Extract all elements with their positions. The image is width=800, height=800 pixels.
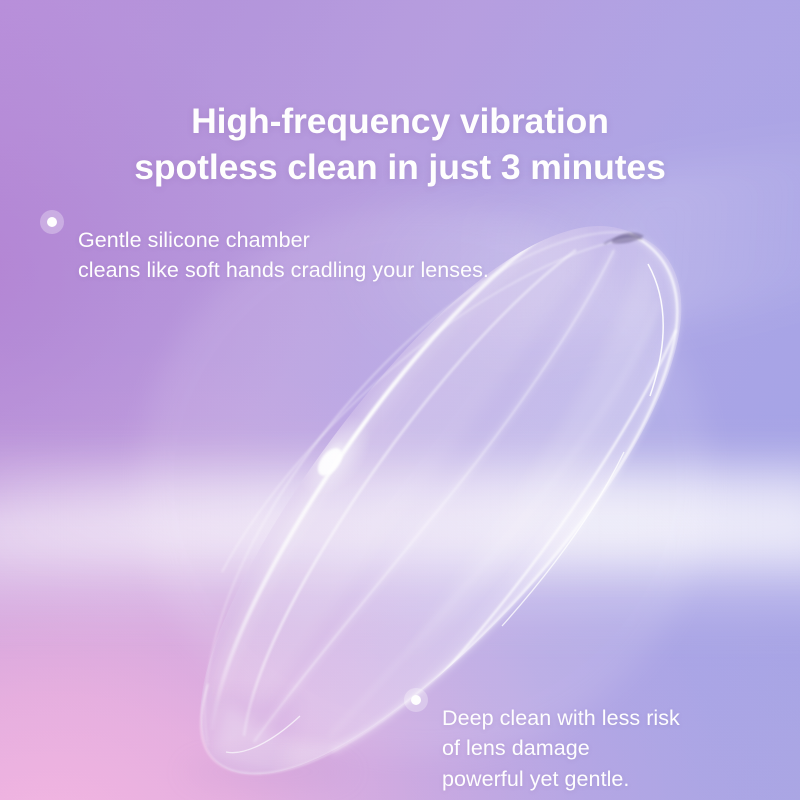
product-banner: High-frequency vibration spotless clean … xyxy=(0,0,800,800)
feature-bullet-text: Deep clean with less risk of lens damage… xyxy=(442,703,680,795)
bullet-dot-icon xyxy=(404,688,428,712)
bullet-dot-icon xyxy=(40,210,64,234)
feature-bullet-text: Gentle silicone chamber cleans like soft… xyxy=(78,225,489,286)
feature-bullet-gentle-silicone-chamber: Gentle silicone chamber cleans like soft… xyxy=(40,203,489,307)
feature-bullet-deep-clean-less-risk: Deep clean with less risk of lens damage… xyxy=(404,681,680,800)
page-title: High-frequency vibration spotless clean … xyxy=(0,98,800,190)
lens-contact-shadow xyxy=(182,756,354,788)
